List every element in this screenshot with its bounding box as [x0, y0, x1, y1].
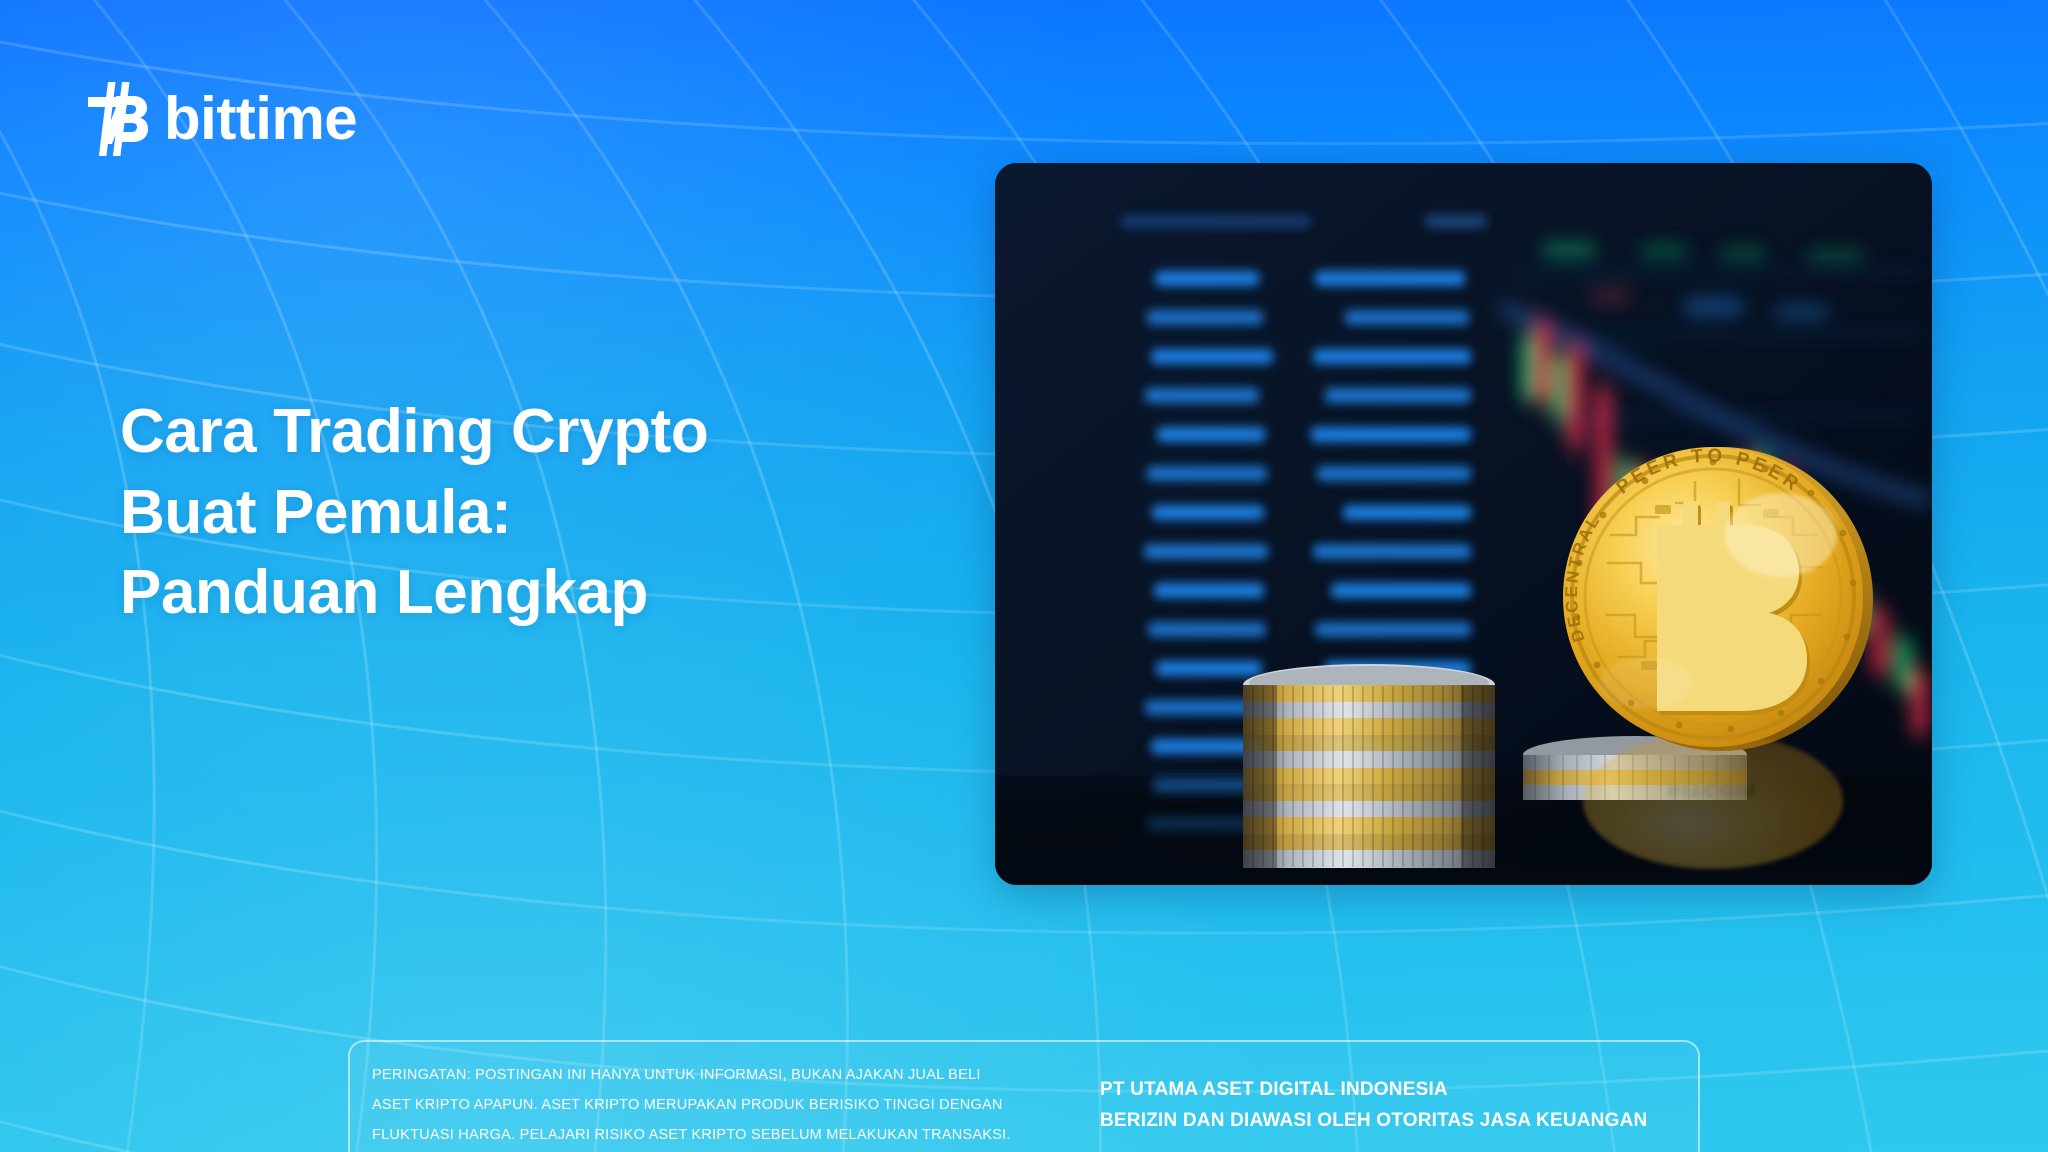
promo-banner: bittime Cara Trading Crypto Buat Pemula:…	[0, 0, 2048, 1152]
headline-line-1: Cara Trading Crypto	[120, 392, 880, 473]
company-name: PT UTAMA ASET DIGITAL INDONESIA	[1100, 1075, 1647, 1106]
bitcoin-b-icon	[86, 82, 148, 156]
headline-line-3: Panduan Lengkap	[120, 553, 880, 634]
license-authority: BERIZIN DAN DIAWASI OLEH OTORITAS JASA K…	[1100, 1106, 1647, 1137]
risk-warning-text: PERINGATAN: POSTINGAN INI HANYA UNTUK IN…	[372, 1061, 1072, 1150]
hero-photo: PEER TO PEER DECENTRALIZED	[995, 163, 1932, 885]
disclaimer-bar: PERINGATAN: POSTINGAN INI HANYA UNTUK IN…	[348, 1040, 1700, 1152]
risk-warning-line-1: PERINGATAN: POSTINGAN INI HANYA UNTUK IN…	[372, 1061, 1072, 1091]
company-license-text: PT UTAMA ASET DIGITAL INDONESIA BERIZIN …	[1100, 1075, 1647, 1137]
brand-wordmark: bittime	[164, 89, 357, 149]
risk-warning-line-3: FLUKTUASI HARGA. PELAJARI RISIKO ASET KR…	[372, 1121, 1072, 1151]
page-title: Cara Trading Crypto Buat Pemula: Panduan…	[120, 392, 880, 634]
headline-line-2: Buat Pemula:	[120, 473, 880, 554]
brand-logo[interactable]: bittime	[86, 82, 357, 156]
risk-warning-line-2: ASET KRIPTO APAPUN. ASET KRIPTO MERUPAKA…	[372, 1091, 1072, 1121]
